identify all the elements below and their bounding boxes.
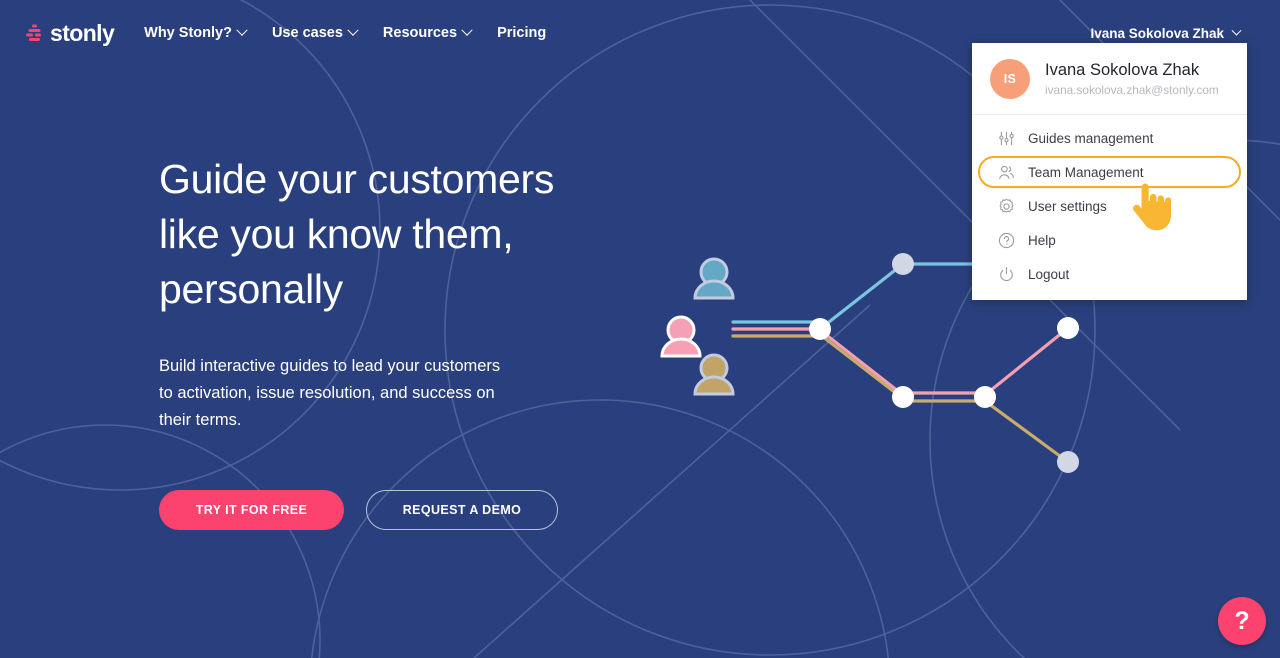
dropdown-profile-header: IS Ivana Sokolova Zhak ivana.sokolova.zh…	[972, 43, 1247, 115]
nav-item-label: Pricing	[497, 25, 546, 41]
menu-item-user-settings[interactable]: User settings	[972, 189, 1247, 223]
nav-item-why-stonly[interactable]: Why Stonly?	[144, 25, 246, 41]
menu-item-label: Team Management	[1028, 165, 1144, 180]
help-fab-button[interactable]: ?	[1218, 597, 1266, 645]
avatar: IS	[990, 59, 1030, 99]
gear-icon	[998, 198, 1015, 215]
chevron-down-icon	[347, 25, 358, 36]
avatar-tan	[695, 355, 733, 394]
request-a-demo-button[interactable]: REQUEST A DEMO	[366, 490, 558, 530]
nav-links: Why Stonly? Use cases Resources Pricing	[144, 25, 546, 41]
page-title: Guide your customers like you know them,…	[159, 152, 629, 317]
chevron-down-icon	[461, 25, 472, 36]
node-hub	[809, 318, 831, 340]
menu-item-guides-management[interactable]: Guides management	[972, 121, 1247, 155]
dropdown-menu-list: Guides management Team Management User s…	[972, 115, 1247, 291]
stonly-pyramid-icon	[26, 24, 43, 43]
node-right-bottom	[1057, 451, 1079, 473]
node-right-top	[1057, 317, 1079, 339]
chevron-down-icon	[1232, 25, 1242, 35]
sliders-icon	[998, 130, 1015, 147]
page-root: stonly Why Stonly? Use cases Resources P…	[0, 0, 1280, 658]
question-mark-icon: ?	[1234, 607, 1249, 636]
profile-name: Ivana Sokolova Zhak	[1045, 60, 1219, 80]
nav-item-pricing[interactable]: Pricing	[497, 25, 546, 41]
menu-item-help[interactable]: Help	[972, 223, 1247, 257]
brand-logo[interactable]: stonly	[26, 22, 114, 45]
try-it-for-free-button[interactable]: TRY IT FOR FREE	[159, 490, 344, 530]
profile-email: ivana.sokolova.zhak@stonly.com	[1045, 82, 1219, 99]
node-mid-left	[892, 386, 914, 408]
menu-item-label: Logout	[1028, 267, 1069, 282]
profile-text: Ivana Sokolova Zhak ivana.sokolova.zhak@…	[1045, 60, 1219, 99]
question-circle-icon	[998, 232, 1015, 249]
menu-item-logout[interactable]: Logout	[972, 257, 1247, 291]
node-mid-right	[974, 386, 996, 408]
chevron-down-icon	[236, 25, 247, 36]
nav-item-label: Resources	[383, 25, 457, 41]
menu-item-label: Guides management	[1028, 131, 1153, 146]
nav-item-resources[interactable]: Resources	[383, 25, 471, 41]
nav-item-use-cases[interactable]: Use cases	[272, 25, 357, 41]
nav-item-label: Use cases	[272, 25, 343, 41]
avatar-pink	[662, 317, 700, 356]
node-top	[892, 253, 914, 275]
hero-cta-group: TRY IT FOR FREE REQUEST A DEMO	[159, 490, 629, 530]
hero-section: Guide your customers like you know them,…	[159, 152, 629, 530]
menu-item-label: User settings	[1028, 199, 1107, 214]
user-dropdown-menu: IS Ivana Sokolova Zhak ivana.sokolova.zh…	[972, 43, 1247, 300]
power-icon	[998, 266, 1015, 283]
user-menu-trigger-label: Ivana Sokolova Zhak	[1090, 26, 1224, 41]
avatar-blue	[695, 259, 733, 298]
user-menu-trigger[interactable]: Ivana Sokolova Zhak	[1090, 26, 1240, 41]
user-group-icon	[998, 164, 1015, 181]
menu-item-label: Help	[1028, 233, 1056, 248]
menu-item-team-management[interactable]: Team Management	[978, 156, 1241, 188]
nav-item-label: Why Stonly?	[144, 25, 232, 41]
hero-subtitle: Build interactive guides to lead your cu…	[159, 353, 629, 434]
brand-name: stonly	[50, 22, 114, 45]
